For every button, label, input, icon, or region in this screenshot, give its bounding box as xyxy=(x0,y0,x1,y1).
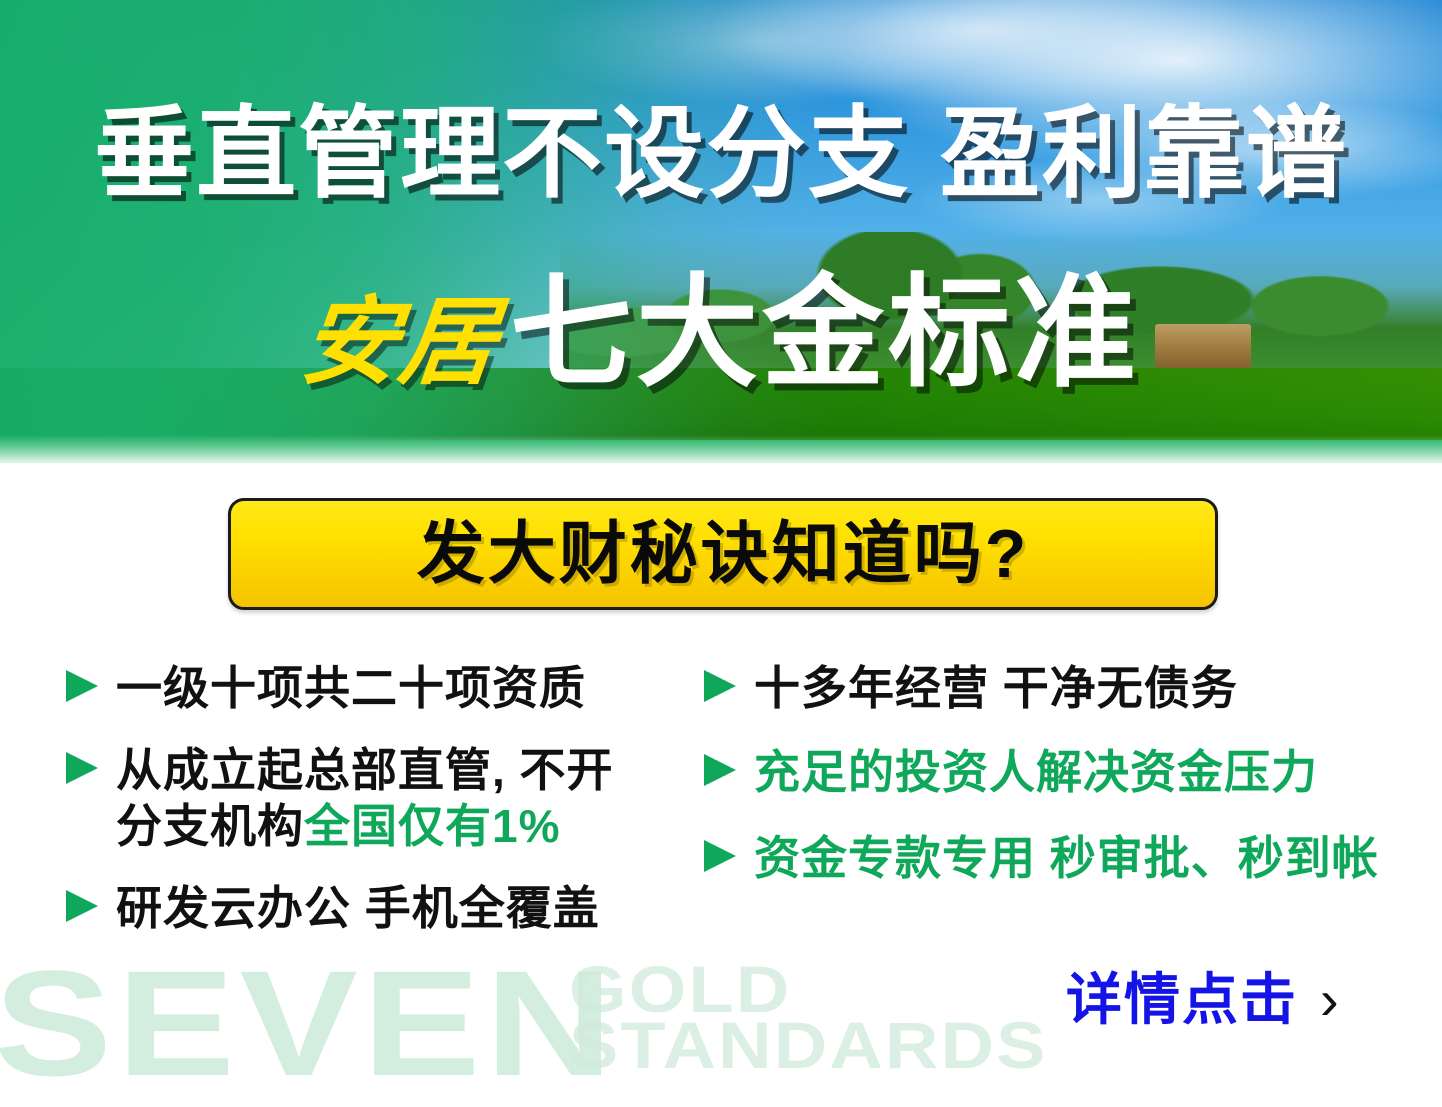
play-triangle-icon xyxy=(700,666,740,706)
feature-item: 资金专款专用 秒审批、秒到帐 xyxy=(700,830,1410,886)
detail-link-label: 详情点击 xyxy=(1066,972,1298,1028)
feature-text: 十多年经营 干净无债务 xyxy=(754,660,1238,716)
feature-text: 一级十项共二十项资质 xyxy=(116,660,586,716)
chevron-right-icon: › xyxy=(1320,972,1339,1028)
hero-bottom-green-bar xyxy=(0,440,1442,463)
feature-column-left: 一级十项共二十项资质 从成立起总部直管, 不开分支机构全国仅有1% 研发云办公 … xyxy=(62,660,702,962)
feature-item: 充足的投资人解决资金压力 xyxy=(700,744,1410,800)
detail-link[interactable]: 详情点击 › xyxy=(1066,972,1339,1028)
play-triangle-icon xyxy=(62,886,102,926)
feature-column-right: 十多年经营 干净无债务 充足的投资人解决资金压力 资金专款专用 秒审批、秒到帐 xyxy=(700,660,1410,912)
hero-banner: 垂直管理不设分支 盈利靠谱 安居七大金标准 xyxy=(0,0,1442,463)
headline-banner-button[interactable]: 发大财秘诀知道吗? xyxy=(228,498,1218,610)
feature-item: 十多年经营 干净无债务 xyxy=(700,660,1410,716)
play-triangle-icon xyxy=(700,836,740,876)
feature-item: 研发云办公 手机全覆盖 xyxy=(62,880,702,936)
play-triangle-icon xyxy=(62,666,102,706)
feature-list-section: 一级十项共二十项资质 从成立起总部直管, 不开分支机构全国仅有1% 研发云办公 … xyxy=(0,660,1442,990)
watermark-standards: STANDARDS xyxy=(569,1012,1048,1078)
feature-item: 一级十项共二十项资质 xyxy=(62,660,702,716)
feature-text-highlight: 全国仅有1% xyxy=(304,800,560,852)
brand-name-anju: 安居 xyxy=(297,295,503,391)
feature-text: 研发云办公 手机全覆盖 xyxy=(116,880,600,936)
hero-headline: 垂直管理不设分支 盈利靠谱 xyxy=(0,104,1442,204)
feature-text-block: 从成立起总部直管, 不开分支机构全国仅有1% xyxy=(116,742,646,854)
play-triangle-icon xyxy=(700,750,740,790)
headline-banner-label: 发大财秘诀知道吗? xyxy=(417,520,1030,588)
feature-item: 从成立起总部直管, 不开分支机构全国仅有1% xyxy=(62,742,702,854)
hero-subheadline-main: 七大金标准 xyxy=(510,265,1140,401)
feature-text: 资金专款专用 秒审批、秒到帐 xyxy=(754,830,1379,886)
feature-text: 充足的投资人解决资金压力 xyxy=(754,744,1318,800)
play-triangle-icon xyxy=(62,748,102,788)
hero-subheadline: 安居七大金标准 xyxy=(0,272,1442,394)
